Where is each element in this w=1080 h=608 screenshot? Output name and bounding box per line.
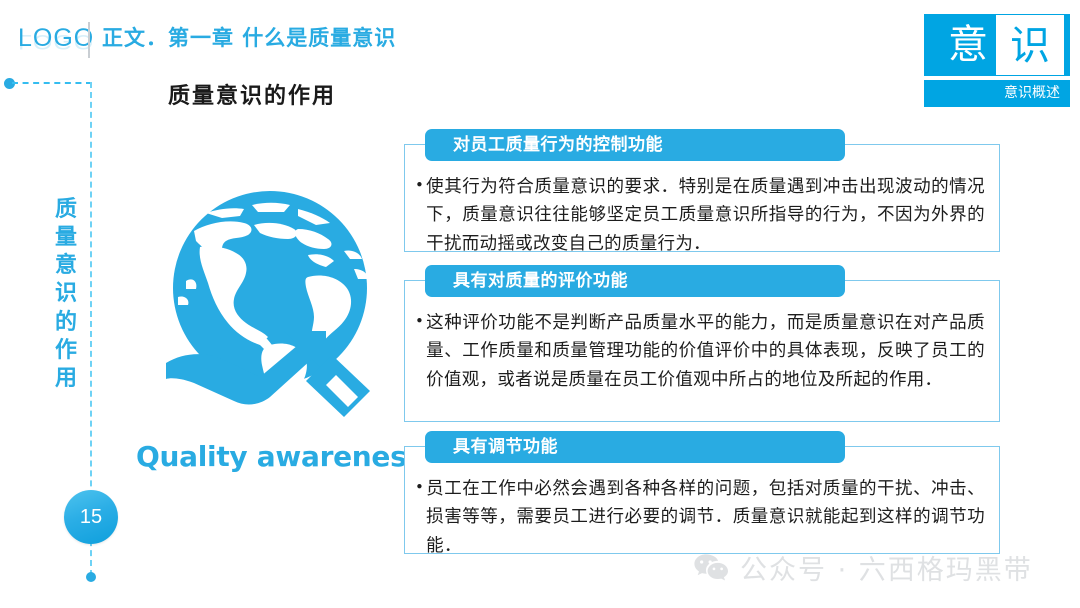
logo: LOGO: [18, 26, 94, 51]
chapter-badge: 意 识: [924, 14, 1070, 76]
bullet-marker: •: [415, 475, 426, 499]
content-box-1-body: • 使其行为符合质量意识的要求．特别是在质量遇到冲击出现波动的情况下，质量意识往…: [405, 145, 999, 268]
content-box-2-header: 具有对质量的评价功能: [425, 265, 845, 297]
header-title: 正文．第一章 什么是质量意识: [102, 26, 396, 51]
bullet-text: 使其行为符合质量意识的要求．特别是在质量遇到冲击出现波动的情况下，质量意识往往能…: [426, 173, 985, 258]
content-box-1: 对员工质量行为的控制功能 • 使其行为符合质量意识的要求．特别是在质量遇到冲击出…: [404, 144, 1000, 252]
content-box-2: 具有对质量的评价功能 • 这种评价功能不是判断产品质量水平的能力，而是质量意识在…: [404, 280, 1000, 422]
page-number-badge: 15: [64, 490, 118, 544]
badge-char-primary: 意: [938, 15, 998, 75]
page-title: 质量意识的作用: [168, 78, 336, 110]
content-box-3-body: • 员工在工作中必然会遇到各种各样的问题，包括对质量的干扰、冲击、损害等等，需要…: [405, 447, 999, 570]
bullet-item: • 员工在工作中必然会遇到各种各样的问题，包括对质量的干扰、冲击、损害等等，需要…: [415, 475, 985, 560]
header-divider: [88, 22, 90, 58]
bullet-marker: •: [415, 309, 426, 333]
slide-canvas: LOGO LOGO 正文．第一章 什么是质量意识 意 识 意识概述 质量意识的作…: [0, 0, 1080, 608]
bullet-text: 这种评价功能不是判断产品质量水平的能力，而是质量意识在对产品质量、工作质量和质量…: [426, 309, 985, 394]
sidebar-vertical-label: 质量意识的作用: [50, 196, 82, 393]
bullet-item: • 使其行为符合质量意识的要求．特别是在质量遇到冲击出现波动的情况下，质量意识往…: [415, 173, 985, 258]
guide-dot-bottom: [86, 572, 96, 582]
content-box-3: 具有调节功能 • 员工在工作中必然会遇到各种各样的问题，包括对质量的干扰、冲击、…: [404, 446, 1000, 554]
bullet-text: 员工在工作中必然会遇到各种各样的问题，包括对质量的干扰、冲击、损害等等，需要员工…: [426, 475, 985, 560]
illustration-caption: Quality awareness: [136, 440, 386, 473]
guide-line-horizontal: [12, 82, 92, 84]
globe-in-hand-icon: [148, 185, 398, 433]
bullet-marker: •: [415, 173, 426, 197]
content-box-2-body: • 这种评价功能不是判断产品质量水平的能力，而是质量意识在对产品质量、工作质量和…: [405, 281, 999, 404]
bullet-item: • 这种评价功能不是判断产品质量水平的能力，而是质量意识在对产品质量、工作质量和…: [415, 309, 985, 394]
badge-char-secondary-box: 识: [996, 15, 1064, 75]
badge-char-secondary: 识: [997, 16, 1063, 74]
content-box-3-header: 具有调节功能: [425, 431, 845, 463]
badge-subtitle: 意识概述: [924, 80, 1070, 107]
content-box-1-header: 对员工质量行为的控制功能: [425, 129, 845, 161]
